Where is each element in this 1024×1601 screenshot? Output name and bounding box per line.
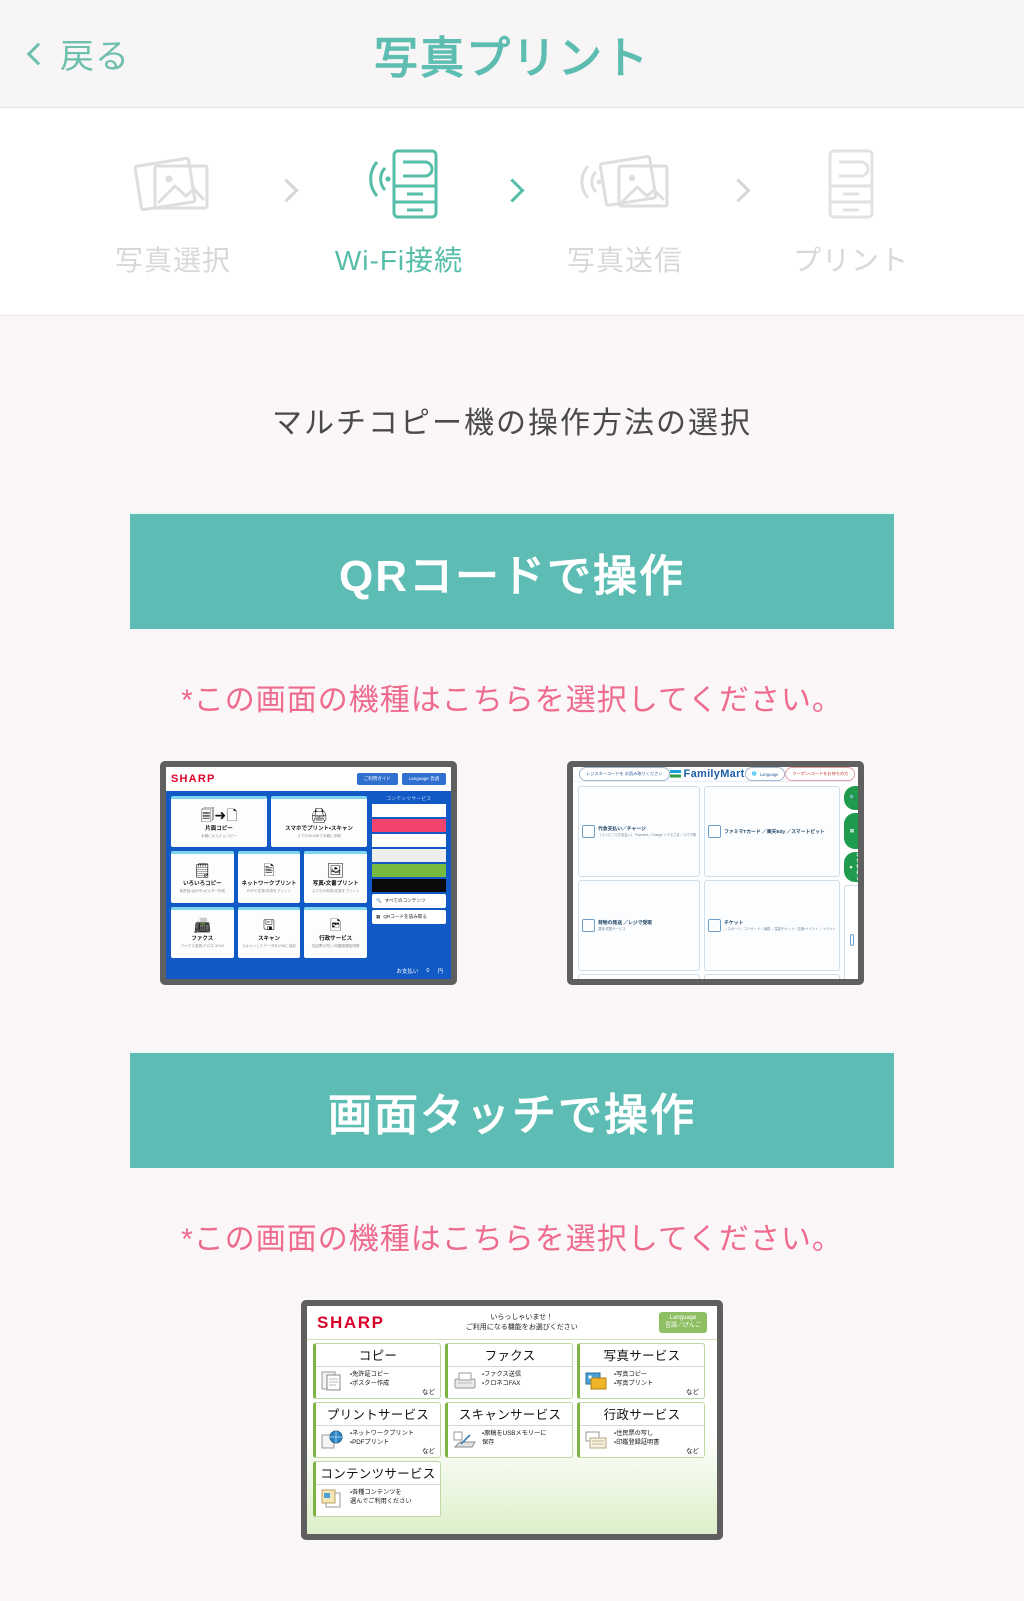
tile-sub: スキャンしたデータをUSBに保存 xyxy=(242,944,296,949)
machine-screen-sharp-green[interactable]: SHARP いらっしゃいませ！ ご利用になる機能をお選びください Languag… xyxy=(301,1300,723,1540)
contents-service-icon xyxy=(320,1488,346,1510)
scan-icon: 🖫 xyxy=(263,918,275,932)
fax-icon: 📠 xyxy=(194,918,211,932)
yen-icon xyxy=(582,825,595,838)
tile-empty-2 xyxy=(577,1461,705,1517)
search-icon: 🔍 xyxy=(850,795,856,801)
tile-title: プリントサービス xyxy=(316,1403,440,1426)
step-label: プリント xyxy=(793,239,909,279)
content-banner-5[interactable] xyxy=(372,864,446,877)
tile-print-service[interactable]: プリントサービス ・ネットワークプリント ・PDFプリント など xyxy=(313,1402,441,1458)
tile-smartphone-print[interactable]: 🖨 スマホでプリント・スキャン スマホのLINEで手軽に印刷 xyxy=(271,796,367,847)
qr-operation-note: *この画面の機種はこちらを選択してください。 xyxy=(0,675,1024,719)
step-photo-send[interactable]: 写真送信 xyxy=(539,145,711,279)
photos-icon xyxy=(130,145,216,223)
tile-sub: （コンビニでお支払い） Payment／Charge ノマネさま／スマホ等 xyxy=(598,832,696,837)
step-print[interactable]: プリント xyxy=(765,145,937,279)
print-service-icon xyxy=(320,1429,346,1451)
inquiry-number-label: お問い合わせ番号を 持っている xyxy=(856,852,858,882)
section-title: マルチコピー機の操作方法の選択 xyxy=(0,398,1024,442)
tile-title: スマホでプリント・スキャン xyxy=(285,824,353,832)
ticket-stub-icon xyxy=(708,919,721,932)
language-line-2: 言語／げんご xyxy=(665,1323,701,1329)
qr-operation-button[interactable]: QRコードで操作 xyxy=(130,514,894,629)
photo-service-icon xyxy=(584,1370,610,1392)
payment-amount: 0 xyxy=(426,968,429,974)
tile-etc: など xyxy=(422,1445,435,1455)
content-banner-3[interactable] xyxy=(372,834,446,847)
tile-sub: ファクス送信・クロネコFAX xyxy=(180,944,224,949)
familymart-left-column: 代金支払い／チャージ（コンビニでお支払い） Payment／Charge ノマネ… xyxy=(578,786,700,979)
keypad-icon: ⌗ xyxy=(850,865,853,870)
tile-sub: スマホのLINEで手軽に印刷 xyxy=(297,834,341,839)
step-separator-2 xyxy=(485,182,539,241)
tile-etc: など xyxy=(686,1445,699,1455)
chevron-right-icon xyxy=(274,178,298,202)
sharp-blue-footer: お支払い 0 円 xyxy=(166,963,451,979)
qr-machine-thumbnails: SHARP ご利用ガイド Language 言語 🗐➜🗋 片面コピー 手軽にかん… xyxy=(0,761,1024,985)
tile-prepaid[interactable]: プリペイドの購入マンガイクス・ノあゆり ／ゲームカード ／現金・電子マネー xyxy=(578,974,700,979)
inquiry-number-button[interactable]: ⌗ お問い合わせ番号を 持っている xyxy=(844,852,858,882)
tile-famima-tcard[interactable]: ファミマTカード ／楽天Edy ／スマートピット xyxy=(704,786,840,877)
wifi-printer-icon xyxy=(356,145,442,223)
government-service-icon: 🖻 xyxy=(330,918,341,932)
welcome-line-1: いらっしゃいませ！ xyxy=(490,1314,553,1321)
language-label: Language xyxy=(760,772,779,777)
sidebar-caption: コンテンツサービス xyxy=(372,796,446,802)
smartphone-print-icon: 🖨 xyxy=(310,808,328,822)
tile-copy[interactable]: コピー ・免許証コピー ・ポスター作成 など xyxy=(313,1343,441,1399)
navbar: 戻る 写真プリント xyxy=(0,0,1024,108)
scan-service-icon xyxy=(452,1429,478,1451)
familymart-header: レジスターコードを お読み取りください FamilyMart 🌐 Languag… xyxy=(573,767,858,782)
tile-sub: スマホの写真・文書をプリント xyxy=(312,889,360,894)
tile-shipping[interactable]: 荷物の発送 ／レジで受取運賃・宅配サービス xyxy=(578,880,700,971)
tile-photo-document-print[interactable]: 🖼 写真・文書プリント スマホの写真・文書をプリント xyxy=(304,851,367,902)
qr-code-button[interactable]: ▦ 2次元コードを 持っている xyxy=(844,813,858,849)
tile-title: 片面コピー xyxy=(205,824,233,832)
welcome-line-2: ご利用になる機能をお選びください xyxy=(466,1324,578,1331)
tile-sub: 免許証・はがき・ポスター作成 xyxy=(180,889,226,894)
page-title: 写真プリント xyxy=(0,22,1024,86)
government-service-button[interactable]: 行政サービス住民票・印鑑証明書 xyxy=(844,885,858,979)
fax-icon xyxy=(452,1370,478,1392)
tile-title: スキャン xyxy=(258,934,280,942)
tile-etc: など xyxy=(422,1386,435,1396)
tile-sports-lottery[interactable]: スポーツくじtoto／BIG xyxy=(704,974,840,979)
step-separator-3 xyxy=(711,182,765,241)
tile-government-service[interactable]: 行政サービス ・住民票の写し ・印鑑登録証明書 など xyxy=(577,1402,705,1458)
content-banner-1[interactable] xyxy=(372,804,446,817)
network-print-icon: 🖹 xyxy=(263,863,274,877)
printer-icon xyxy=(821,145,881,223)
tile-lines: ・各種コンテンツを 選んでご利用ください xyxy=(350,1488,412,1507)
copy-icon xyxy=(320,1370,346,1392)
tile-network-print[interactable]: 🖹 ネットワークプリント PDFや文書・写真をプリント xyxy=(238,851,301,902)
register-code-pill[interactable]: レジスターコードを お読み取りください xyxy=(579,767,670,781)
coupon-pill[interactable]: クーポン・コードをお持ちの方 xyxy=(785,767,855,781)
sharp-blue-tile-grid: 🗐➜🗋 片面コピー 手軽にかんたんコピー 🖨 スマホでプリント・スキャン スマホ… xyxy=(171,796,367,958)
tile-title: 代金支払い／チャージ xyxy=(598,825,696,832)
familymart-right-column: 🔍 キーワードで探す ▦ 2次元コードを 持っている ⌗ お問い合わせ番号を 持… xyxy=(844,786,858,979)
familymart-brand-text: FamilyMart xyxy=(684,768,745,780)
tile-lines: ・原稿をUSBメモリーに 保存 xyxy=(482,1429,546,1448)
language-pill[interactable]: Language 言語 xyxy=(402,773,446,785)
tile-title: コピー xyxy=(316,1344,440,1367)
tile-lines: ・ファクス送信 ・クロネコFAX xyxy=(482,1370,521,1389)
touch-operation-button[interactable]: 画面タッチで操作 xyxy=(130,1053,894,1168)
tile-title: ファクス xyxy=(448,1344,572,1367)
payment-label: お支払い xyxy=(396,967,418,975)
tile-title: ネットワークプリント xyxy=(242,879,297,887)
wifi-photos-icon xyxy=(577,145,673,223)
touch-machine-thumbnail: SHARP いらっしゃいませ！ ご利用になる機能をお選びください Languag… xyxy=(0,1300,1024,1540)
step-wifi-connect[interactable]: Wi-Fi接続 xyxy=(313,145,485,279)
machine-screen-familymart[interactable]: レジスターコードを お読み取りください FamilyMart 🌐 Languag… xyxy=(567,761,864,985)
chevron-right-icon xyxy=(726,178,750,202)
step-label: 写真選択 xyxy=(115,239,231,279)
touch-operation-note: *この画面の機種はこちらを選択してください。 xyxy=(0,1214,1024,1258)
progress-stepper: 写真選択 Wi-Fi接続 xyxy=(0,108,1024,316)
government-service-icon xyxy=(584,1429,610,1451)
tile-title: いろいろコピー xyxy=(183,879,222,887)
qr-code-icon: ▦ xyxy=(850,828,854,834)
sharp-logo: SHARP xyxy=(317,1313,385,1333)
step-separator-1 xyxy=(259,182,313,241)
tile-copy[interactable]: 🗐➜🗋 片面コピー 手軽にかんたんコピー xyxy=(171,796,267,847)
tile-scan-service[interactable]: スキャンサービス ・原稿をUSBメモリーに 保存 xyxy=(445,1402,573,1458)
tile-title: チケット xyxy=(724,919,836,926)
tile-various-copy[interactable]: 🗒 いろいろコピー 免許証・はがき・ポスター作成 xyxy=(171,851,234,902)
photo-document-icon: 🖼 xyxy=(327,863,345,877)
language-pill[interactable]: 🌐 Language xyxy=(745,767,786,781)
sharp-blue-header-pills: ご利用ガイド Language 言語 xyxy=(357,773,446,785)
familymart-mid-column: ファミマTカード ／楽天Edy ／スマートピット チケット／スポーツ／コンサート… xyxy=(704,786,840,979)
qr-operation-label: QRコードで操作 xyxy=(339,540,685,604)
tile-ticket[interactable]: チケット／スポーツ／コンサート／演劇 ／温泉チケット／交通・イベント ／イベント xyxy=(704,880,840,971)
step-label: Wi-Fi接続 xyxy=(335,239,463,279)
tile-title: ファミマTカード ／楽天Edy ／スマートピット xyxy=(724,828,825,835)
globe-icon: 🌐 xyxy=(752,771,757,777)
tcard-icon xyxy=(708,825,721,838)
tile-sub: ／スポーツ／コンサート／演劇 ／温泉チケット／交通・イベント ／イベント xyxy=(724,926,836,931)
step-label: 写真送信 xyxy=(567,239,683,279)
search-icon: 🔍 xyxy=(376,898,382,904)
sharp-blue-header: SHARP ご利用ガイド Language 言語 xyxy=(166,767,451,791)
qr-scan-button[interactable]: ▦ QRコードを読み取る xyxy=(372,910,446,924)
sharp-green-header: SHARP いらっしゃいませ！ ご利用になる機能をお選びください Languag… xyxy=(307,1306,717,1340)
tile-fax[interactable]: 📠 ファクス ファクス送信・クロネコFAX xyxy=(171,907,234,958)
box-icon xyxy=(582,919,595,932)
tile-title: ファクス xyxy=(191,934,213,942)
step-photo-select[interactable]: 写真選択 xyxy=(87,145,259,279)
content-banner-2[interactable] xyxy=(372,819,446,832)
tile-contents-service[interactable]: コンテンツサービス ・各種コンテンツを 選んでご利用ください xyxy=(313,1461,441,1517)
guide-pill[interactable]: ご利用ガイド xyxy=(357,773,398,785)
familymart-logo: FamilyMart xyxy=(670,768,745,780)
document-icon xyxy=(850,934,854,946)
copy-icon: 🗐➜🗋 xyxy=(201,808,238,822)
tile-empty-1 xyxy=(445,1461,573,1517)
machine-screen-sharp-blue[interactable]: SHARP ご利用ガイド Language 言語 🗐➜🗋 片面コピー 手軽にかん… xyxy=(160,761,457,985)
various-copy-icon: 🗒 xyxy=(193,863,211,877)
touch-operation-label: 画面タッチで操作 xyxy=(328,1079,696,1143)
tile-etc: など xyxy=(686,1386,699,1396)
content-banner-4[interactable] xyxy=(372,849,446,862)
welcome-message: いらっしゃいませ！ ご利用になる機能をお選びください xyxy=(466,1313,578,1333)
language-button[interactable]: Language 言語／げんご xyxy=(659,1312,707,1334)
qr-scan-label: QRコードを読み取る xyxy=(383,914,427,920)
qr-code-icon: ▦ xyxy=(376,914,380,920)
tile-sub: 運賃・宅配サービス xyxy=(598,926,652,931)
familymart-bars-icon xyxy=(670,770,681,779)
sharp-logo: SHARP xyxy=(171,773,216,785)
tile-lines: ・住民票の写し ・印鑑登録証明書 xyxy=(614,1429,659,1448)
tile-title: 写真・文書プリント xyxy=(313,879,359,887)
content-banner-6[interactable] xyxy=(372,879,446,892)
tile-title: 行政サービス xyxy=(580,1403,704,1426)
tile-title: 荷物の発送 ／レジで受取 xyxy=(598,919,652,926)
all-contents-button[interactable]: 🔍 すべてのコンテンツ xyxy=(372,894,446,908)
tile-government-service[interactable]: 🖻 行政サービス 住民票の写し・印鑑登録証明書 xyxy=(304,907,367,958)
tile-sub: 住民票の写し・印鑑登録証明書 xyxy=(312,944,360,949)
chevron-right-icon xyxy=(500,178,524,202)
sharp-green-tile-grid: コピー ・免許証コピー ・ポスター作成 など xyxy=(307,1340,717,1534)
main-content: マルチコピー機の操作方法の選択 QRコードで操作 *この画面の機種はこちらを選択… xyxy=(0,316,1024,1540)
sharp-blue-sidebar: コンテンツサービス 🔍 すべてのコンテンツ ▦ QR xyxy=(372,796,446,958)
tile-sub: 手軽にかんたんコピー xyxy=(201,834,237,839)
tile-sub: PDFや文書・写真をプリント xyxy=(247,889,291,894)
tile-title: コンテンツサービス xyxy=(316,1462,440,1485)
all-contents-label: すべてのコンテンツ xyxy=(385,898,426,904)
tile-scan[interactable]: 🖫 スキャン スキャンしたデータをUSBに保存 xyxy=(238,907,301,958)
tile-title: スキャンサービス xyxy=(448,1403,572,1426)
tile-lines: ・ネットワークプリント ・PDFプリント xyxy=(350,1429,414,1448)
tile-title: 行政サービス xyxy=(319,934,352,942)
tile-title: 写真サービス xyxy=(580,1344,704,1367)
language-line-1: Language xyxy=(670,1315,697,1321)
tile-fax[interactable]: ファクス ・ファクス送信 ・クロネコFAX xyxy=(445,1343,573,1399)
tile-lines: ・免許証コピー ・ポスター作成 xyxy=(350,1370,389,1389)
tile-payment-charge[interactable]: 代金支払い／チャージ（コンビニでお支払い） Payment／Charge ノマネ… xyxy=(578,786,700,877)
payment-unit: 円 xyxy=(437,967,443,975)
keyword-search-button[interactable]: 🔍 キーワードで探す xyxy=(844,786,858,810)
tile-lines: ・写真コピー ・写真プリント xyxy=(614,1370,653,1389)
tile-photo-service[interactable]: 写真サービス ・写真コピー ・写真プリント など xyxy=(577,1343,705,1399)
